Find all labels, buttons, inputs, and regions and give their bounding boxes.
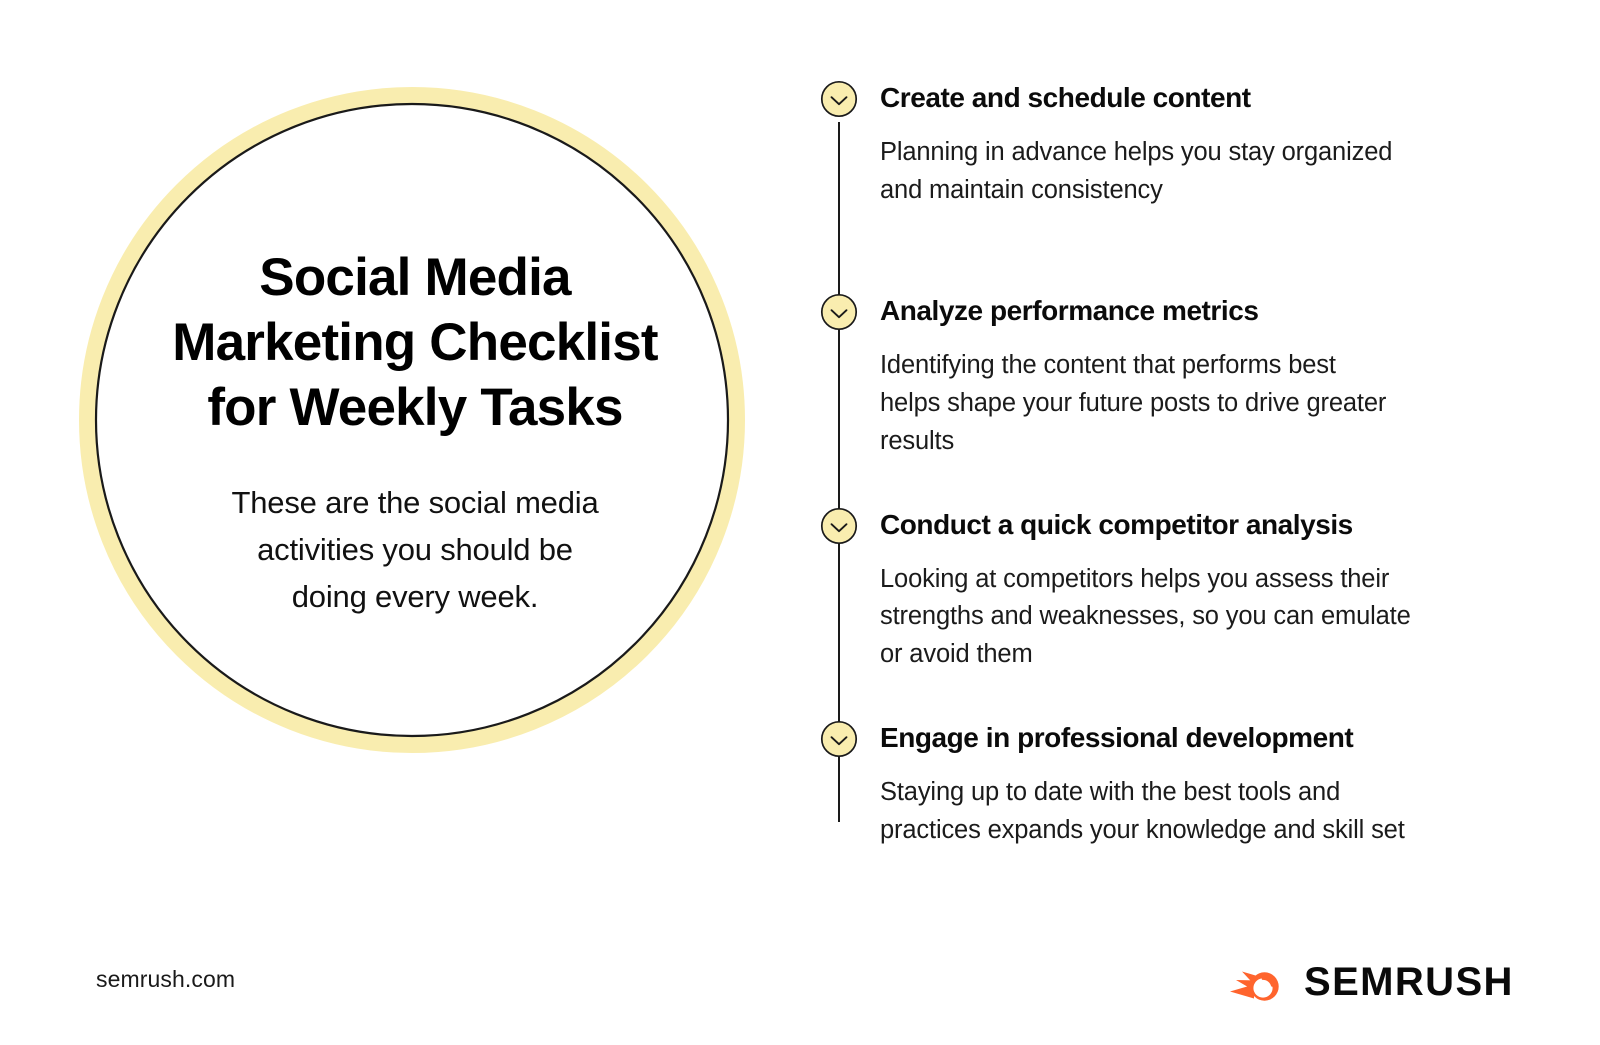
page-title: Social Media Marketing Checklist for Wee… [150, 245, 680, 441]
checklist-timeline: Create and schedule content Planning in … [812, 78, 1512, 849]
checklist-item[interactable]: Analyze performance metrics Identifying … [812, 291, 1512, 460]
checklist-item-title: Engage in professional development [880, 718, 1512, 755]
check-circle-icon [820, 80, 858, 118]
checklist-item[interactable]: Engage in professional development Stayi… [812, 718, 1512, 849]
semrush-wordmark: SEMRUSH [1304, 962, 1514, 1004]
checklist-item-title: Conduct a quick competitor analysis [880, 505, 1512, 542]
hero-circle-panel: Social Media Marketing Checklist for Wee… [0, 0, 800, 900]
checklist-item-description: Staying up to date with the best tools a… [880, 774, 1480, 849]
footer-website-url[interactable]: semrush.com [96, 966, 235, 993]
checklist-item-description: Identifying the content that performs be… [880, 347, 1480, 460]
checklist-item-description: Looking at competitors helps you assess … [880, 561, 1480, 674]
semrush-logo[interactable]: SEMRUSH [1228, 957, 1514, 1009]
checklist-item[interactable]: Create and schedule content Planning in … [812, 78, 1512, 209]
checklist-item-title: Create and schedule content [880, 78, 1512, 115]
hero-text-block: Social Media Marketing Checklist for Wee… [150, 245, 680, 620]
checklist-item-description: Planning in advance helps you stay organ… [880, 134, 1480, 209]
check-circle-icon [820, 720, 858, 758]
infographic-canvas: Social Media Marketing Checklist for Wee… [0, 0, 1600, 1045]
page-subtitle: These are the social media activities yo… [200, 479, 630, 620]
checklist-item-title: Analyze performance metrics [880, 291, 1512, 328]
check-circle-icon [820, 293, 858, 331]
checklist-item[interactable]: Conduct a quick competitor analysis Look… [812, 505, 1512, 674]
semrush-comet-icon [1228, 960, 1286, 1006]
check-circle-icon [820, 507, 858, 545]
